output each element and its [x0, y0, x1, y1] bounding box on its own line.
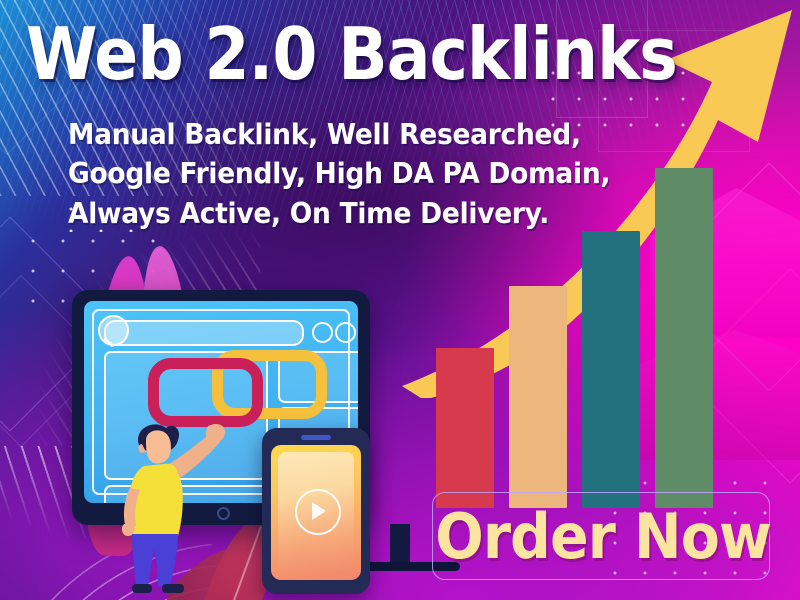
tablet-speaker [301, 435, 331, 440]
person-illustration [108, 418, 228, 600]
search-input[interactable] [104, 320, 304, 346]
play-icon[interactable] [295, 489, 341, 535]
subheadline-line-1: Manual Backlink, Well Researched, [68, 115, 570, 154]
window-dot-2[interactable] [335, 322, 356, 343]
chart-bar-2 [509, 286, 567, 508]
subheadline: Manual Backlink, Well Researched, Google… [68, 115, 570, 233]
tablet-screen-inner [278, 452, 354, 573]
page-title: Web 2.0 Backlinks [26, 18, 602, 90]
chart-bar-4 [655, 168, 713, 508]
order-now-label[interactable]: Order Now [457, 496, 750, 576]
tablet-device [262, 428, 370, 594]
chart-bar-3 [582, 231, 640, 508]
promo-poster: Web 2.0 Backlinks Manual Backlink, Well … [0, 0, 800, 600]
window-dot-1[interactable] [312, 322, 333, 343]
subheadline-line-2: Google Friendly, High DA PA Domain, [68, 154, 570, 193]
subheadline-line-3: Always Active, On Time Delivery. [68, 194, 570, 233]
chart-bar-1 [436, 348, 494, 508]
tablet-screen [271, 445, 361, 580]
search-icon[interactable] [98, 315, 129, 346]
monitor-stand [390, 524, 410, 566]
chain-link-red-overlap-icon [148, 358, 263, 427]
